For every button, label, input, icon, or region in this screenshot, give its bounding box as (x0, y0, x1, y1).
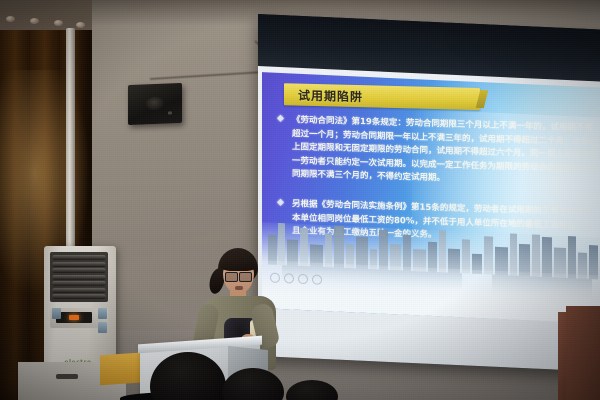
wooden-chair-back (566, 306, 600, 400)
air-conditioner-tab[interactable] (98, 308, 107, 319)
curtain-grommet (30, 18, 39, 24)
slide-bullet-1: 《劳动合同法》第19条规定：劳动合同期限三个月以上不满一年的，试用期不得超过一个… (278, 114, 600, 191)
presenter-fringe (221, 258, 256, 271)
bullet-diamond-icon (277, 115, 284, 122)
lecture-hall-photo: 试用期陷阱 《劳动合同法》第19条规定：劳动合同期限三个月以上不满一年的，试用期… (0, 0, 600, 400)
slide-icon-circle (284, 273, 294, 283)
air-conditioner-grille (50, 252, 108, 302)
slide-title-banner: 试用期陷阱 (284, 83, 480, 110)
air-conditioner-tab[interactable] (52, 308, 61, 319)
wall-speaker-icon (128, 83, 182, 125)
slide-bullet-1-text: 《劳动合同法》第19条规定：劳动合同期限三个月以上不满一年的，试用期不得超过一个… (292, 114, 600, 190)
speaker-cone-icon (146, 97, 164, 111)
curtain-grommet (76, 22, 85, 28)
presentation-slide: 试用期陷阱 《劳动合同法》第19条规定：劳动合同期限三个月以上不满一年的，试用期… (262, 72, 600, 323)
slide-skyline-graphic (262, 222, 600, 323)
speaker-led-icon (168, 111, 172, 114)
air-conditioner-led-icon (69, 315, 79, 320)
bullet-diamond-icon (277, 199, 284, 206)
projection-screen: 试用期陷阱 《劳动合同法》第19条规定：劳动合同期限三个月以上不满一年的，试用期… (258, 14, 600, 372)
curtain-grommet (54, 20, 63, 26)
presenter-glasses-icon (225, 272, 252, 280)
slide-title-text: 试用期陷阱 (298, 86, 363, 105)
cabinet-handle[interactable] (56, 374, 78, 379)
slide-icon-circle (312, 274, 322, 284)
curtain-grommet (6, 16, 15, 22)
air-conditioner-display (56, 312, 92, 323)
air-conditioner-pipe (66, 28, 75, 248)
slide-icon-circle (298, 274, 308, 284)
air-conditioner-tab[interactable] (98, 322, 107, 333)
